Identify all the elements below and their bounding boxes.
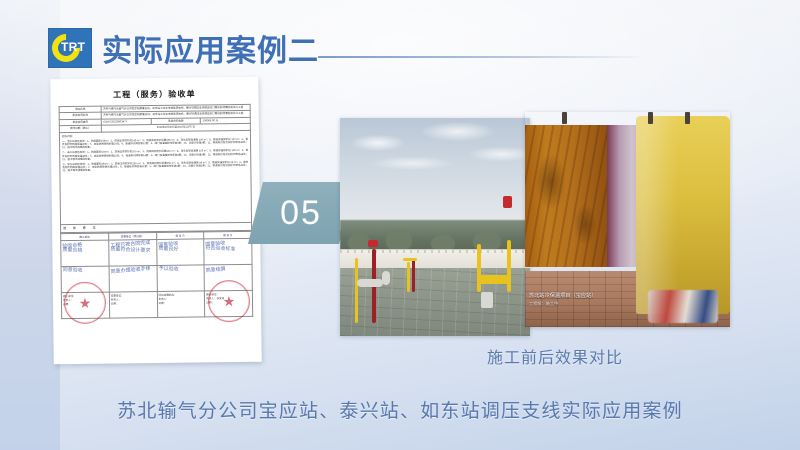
footer-line: 日期：: [111, 301, 156, 306]
logo-text: TRT: [61, 40, 91, 55]
footer-line: 日期：: [158, 300, 203, 305]
red-seal-stamp-icon: [208, 279, 251, 322]
document-title: 工程（服务）验收单: [58, 88, 250, 101]
photo-clouds: [340, 118, 530, 231]
sign-cell: 验收合格 质量合格: [61, 240, 109, 267]
photo-pipe-gray: [357, 279, 383, 287]
sign-cell: 同意验收 符合验收标准: [204, 238, 252, 265]
sign-cell: 同意验收 质量良好: [156, 239, 204, 266]
table-row: 施工单位： 负责人： 日期： 监理单位： 负责人： 日期： 项目监理机构： 负责…: [61, 290, 252, 318]
signature-table: 施工单位 监理单位（项目部） 使 用 方 建 设 方 验收合格 质量合格 工程已…: [60, 230, 253, 318]
sign-cell: 工程已按合同完成 质量符合设计要求: [108, 239, 156, 266]
handwriting: 同意办理验收手续: [110, 265, 155, 275]
handwriting: 予以验收: [158, 265, 203, 273]
section-number-badge: 05: [248, 182, 354, 244]
photo-pipe-yellow: [355, 258, 358, 323]
photo-boundary-wall: [340, 249, 530, 269]
body-paragraph: 一、宝应站调压支线：1、防腐面积155m²；2、防腐主体防护层145 m²；3、…: [62, 138, 248, 150]
handwriting: 质量良好: [158, 245, 203, 253]
photo-station-site: [340, 118, 530, 336]
sign-footer-cell: 项目监理机构： 负责人： 日期：: [157, 291, 205, 318]
photo-bolt: [685, 112, 690, 124]
header-divider: [318, 56, 648, 58]
photo-pipe-red: [412, 258, 415, 293]
photo-cabinet: [481, 292, 493, 308]
photo-pipe-yellow: [507, 240, 511, 292]
handwriting: 符合验收标准: [205, 245, 250, 253]
doc-row-label: 合同日期（施工）: [59, 125, 101, 132]
slide-header: TRT 实际应用案例二: [48, 26, 319, 70]
photo-new-coating-section: [636, 116, 730, 314]
handwriting: 同意结算: [206, 264, 251, 274]
photo-valve-red: [368, 240, 378, 247]
handwriting: 质量合格: [62, 247, 107, 255]
handwriting: 同意验收: [63, 267, 108, 275]
photo-pipe-yellow: [403, 258, 417, 261]
photo-valve-red: [503, 196, 512, 208]
photo-debris-cloth: [648, 290, 718, 322]
sign-cell: 同意办理验收手续: [109, 265, 157, 292]
sign-footer-cell: 施工单位： 负责人： 日期：: [61, 292, 109, 319]
photo-pipe-yellow: [407, 262, 410, 293]
photo-corroded-section: [525, 125, 611, 267]
overlay-subtitle: 工程前：施工中: [529, 300, 597, 307]
photo-pipe-yellow: [477, 244, 481, 292]
table-row: 验收合格 质量合格 工程已按合同完成 质量符合设计要求 同意验收 质量良好 同意…: [61, 238, 252, 266]
photo-pipe-yellow: [477, 275, 511, 284]
body-paragraph: 三、如东站调压支线：1、防腐面积150m²；2、防腐主体防护层150 m²；3、…: [62, 161, 248, 173]
handwriting: 质量符合设计要求: [110, 246, 155, 254]
sign-footer-cell: 建设单位： 负责人：张某某 日期：: [205, 290, 253, 317]
comparison-caption: 施工前后效果对比: [440, 344, 670, 368]
photo-overlay-caption: 苏北站冷保温项目（宝应站） 工程前：施工中: [529, 293, 597, 307]
trt-logo-icon: TRT: [48, 28, 92, 68]
photo-coating-comparison: 苏北站冷保温项目（宝应站） 工程前：施工中: [525, 112, 730, 327]
acceptance-document-image: 工程（服务）验收单 项目名称 天然气输气及管气分公司宝应站数量支线、如东站三年年…: [50, 77, 261, 365]
sign-cell: 予以验收: [157, 265, 205, 292]
photo-bolt: [562, 112, 567, 124]
photo-pipe-gray: [382, 271, 390, 285]
overlay-title: 苏北站冷保温项目（宝应站）: [529, 293, 597, 299]
page-title: 实际应用案例二: [102, 26, 319, 70]
body-paragraph: 二、泰兴站调压支线：1、防腐面积160m²；2、防腐主体防护层160 m²；3、…: [62, 149, 248, 161]
document-info-table: 项目名称 天然气输气及管气分公司宝应站数量支线、如东站三年年末新能源支线、泰兴站…: [59, 104, 251, 133]
photo-bolt: [648, 112, 653, 124]
section-number: 05: [280, 194, 322, 233]
main-caption: 苏北输气分公司宝应站、泰兴站、如东站调压支线实际应用案例: [0, 396, 800, 423]
document-body: 验收内容： 一、宝应站调压支线：1、防腐面积155m²；2、防腐主体防护层145…: [59, 130, 252, 224]
red-seal-stamp-icon: [64, 281, 107, 324]
sign-footer-cell: 监理单位： 负责人： 日期：: [109, 291, 157, 318]
